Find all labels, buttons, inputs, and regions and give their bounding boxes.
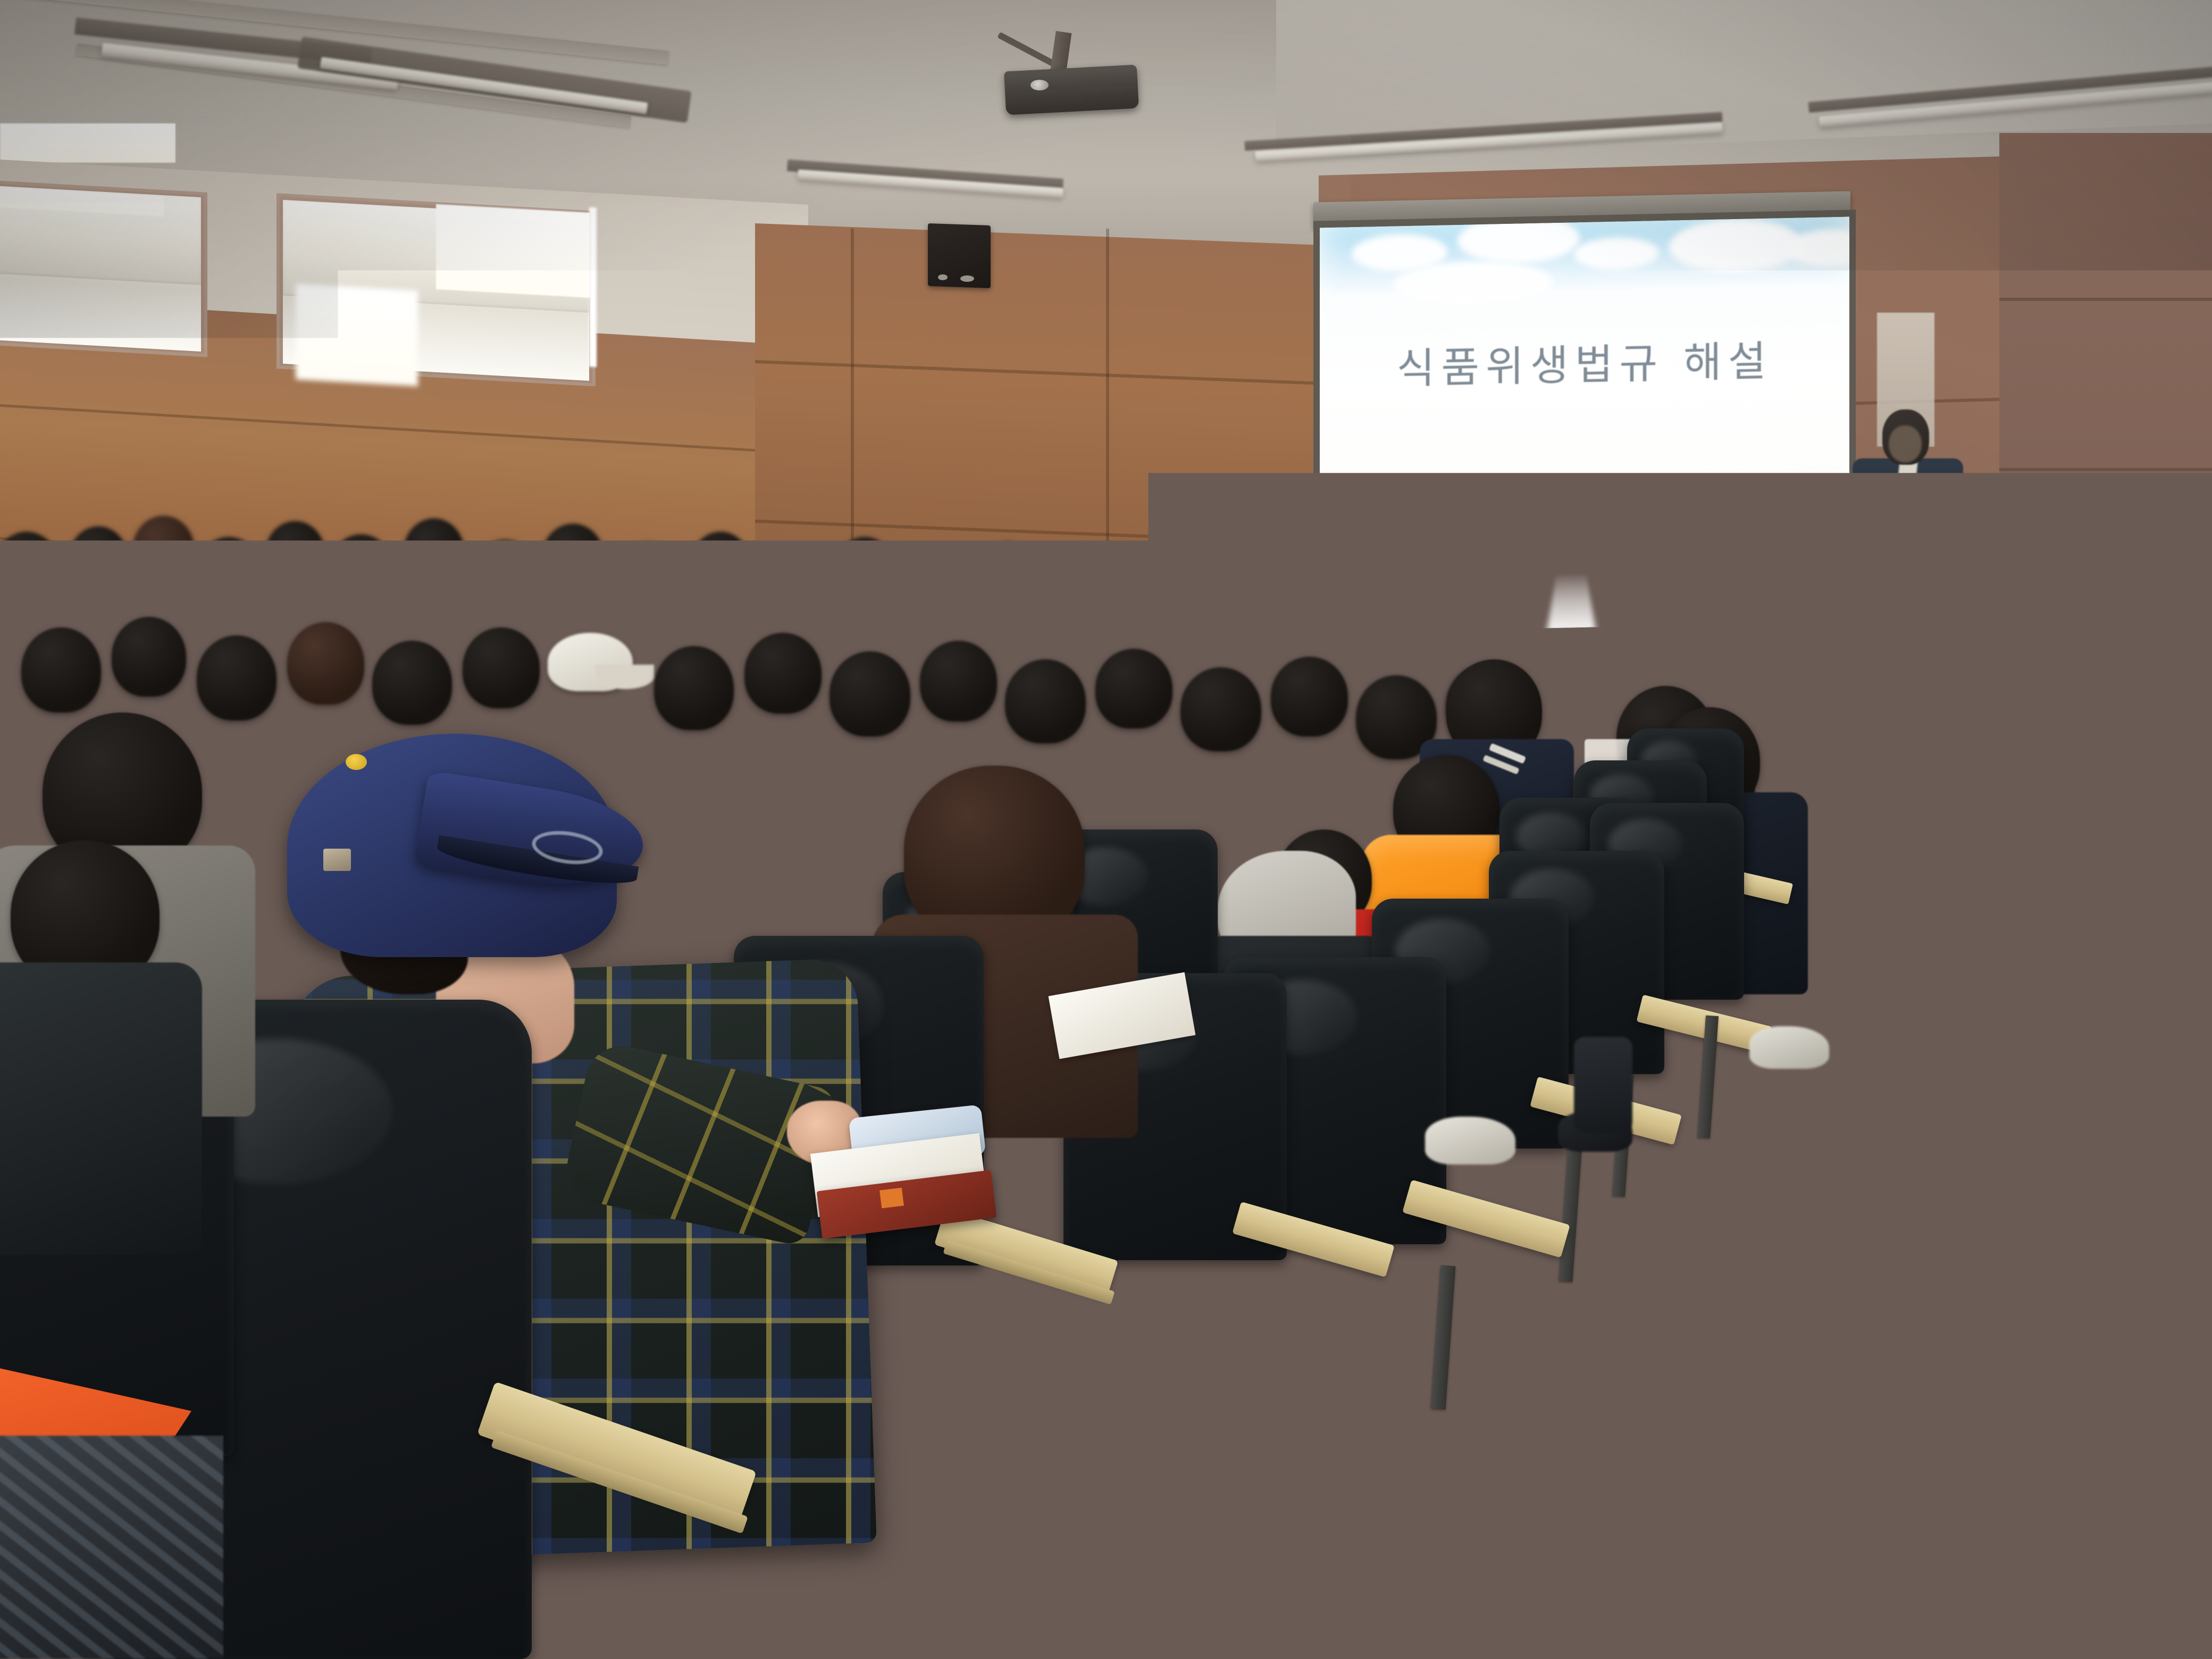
shoe-1 (1425, 1117, 1515, 1164)
bookmark-orange (879, 1188, 904, 1209)
slide-title: 식품위생법규 해설 (1320, 326, 1849, 397)
far-right-seam-1 (1999, 298, 2212, 301)
presenter-lapel-badge (1899, 495, 1913, 501)
knit-fabric-bottom-left (0, 1436, 223, 1659)
speaker-grille-dot-1 (938, 274, 948, 280)
student-left-dark-jacket (0, 840, 213, 1255)
projector-lens-icon (1030, 80, 1049, 90)
cap-size-tag (323, 849, 351, 871)
cap-button-icon (346, 754, 367, 770)
wall-mounted-speaker (928, 223, 991, 288)
speaker-grille-dot-2 (960, 275, 974, 282)
shoe-2 (1749, 1026, 1829, 1069)
backpack-pocket (895, 1478, 1056, 1595)
far-right-seam-2 (1999, 468, 2212, 471)
window-left-2-mullion (589, 207, 597, 367)
lecture-hall-photo: 식품위생법규 해설 (0, 0, 2212, 1659)
leg-dark-1 (1574, 1037, 1632, 1133)
podium-emblem-icon (1872, 574, 1897, 600)
ceiling-projector (1004, 65, 1139, 115)
window-left-2-sunpatch (296, 284, 418, 387)
window-left-2-glare (436, 204, 590, 298)
presenter-face (1889, 425, 1922, 463)
ceiling-glare-left (0, 123, 175, 163)
far-right-wall (1999, 133, 2212, 904)
